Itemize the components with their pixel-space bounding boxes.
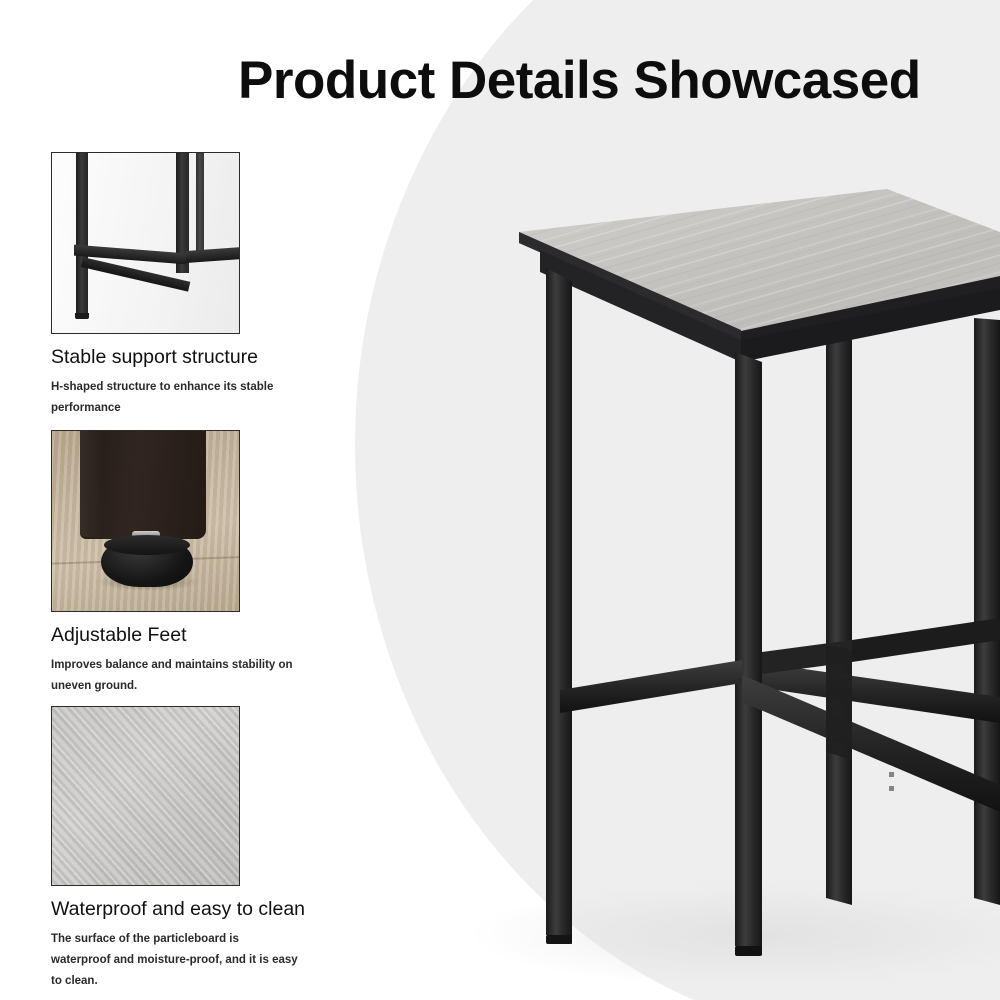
thumbnail-woodgrain-surface xyxy=(51,706,240,886)
adjustable-foot-pad-top xyxy=(104,535,190,555)
circle-backdrop xyxy=(355,0,1000,1000)
feature-title: Waterproof and easy to clean xyxy=(51,897,316,921)
feature-title: Adjustable Feet xyxy=(51,623,316,647)
page-title: Product Details Showcased xyxy=(238,50,921,112)
feature-block-waterproof-easy-to-clean: Waterproof and easy to clean The surface… xyxy=(51,706,316,992)
particleboard-surface xyxy=(52,707,239,885)
table-leg-left xyxy=(76,152,88,316)
feature-description: The surface of the particleboard is wate… xyxy=(51,929,301,992)
thumbnail-adjustable-foot xyxy=(51,430,240,612)
table-leg-highlight xyxy=(80,430,102,537)
thumbnail-h-frame-legs xyxy=(51,152,240,334)
feature-block-adjustable-feet: Adjustable Feet Improves balance and mai… xyxy=(51,430,316,697)
feature-description: H-shaped structure to enhance its stable… xyxy=(51,377,301,419)
feature-description: Improves balance and maintains stability… xyxy=(51,655,301,697)
product-detail-infographic: Product Details Showcased Stable support… xyxy=(0,0,1000,1000)
table-leg-far xyxy=(196,152,204,253)
leg-foot-cap xyxy=(75,313,89,319)
feature-title: Stable support structure xyxy=(51,345,316,369)
feature-block-stable-support-structure: Stable support structure H-shaped struct… xyxy=(51,152,316,419)
